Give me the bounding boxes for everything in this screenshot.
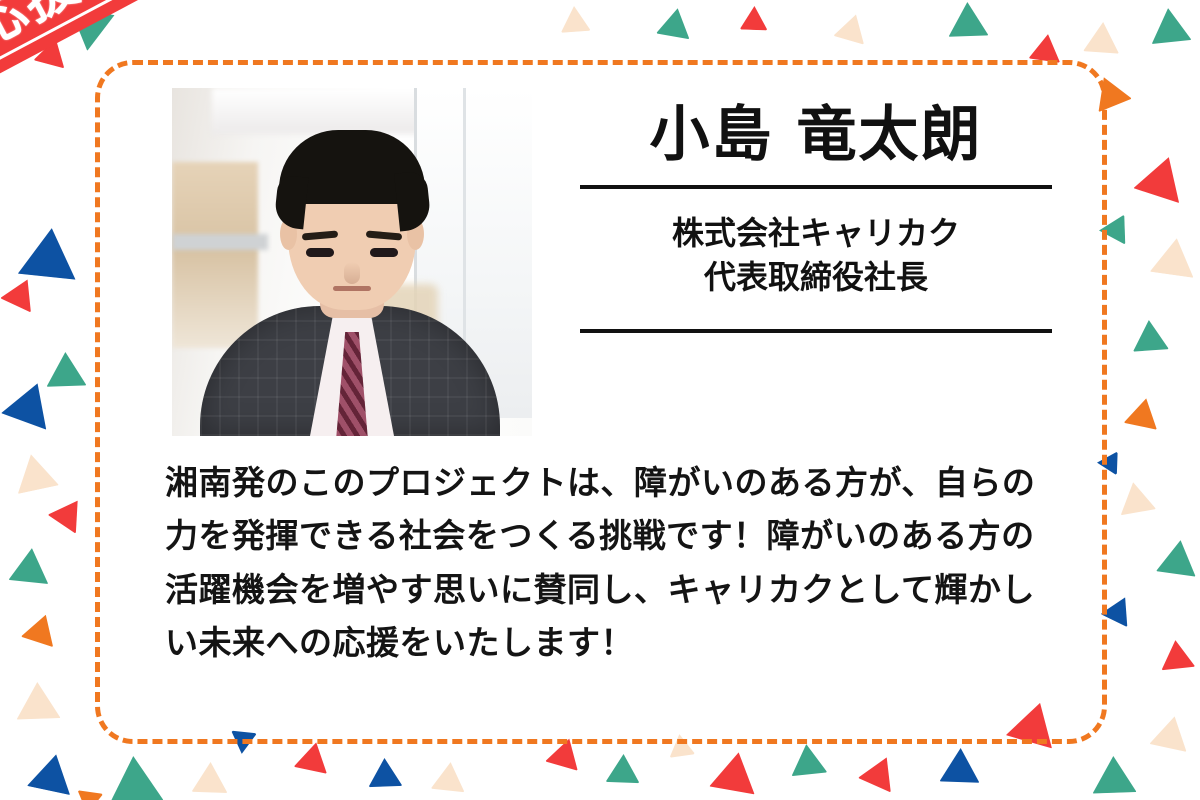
confetti-triangle bbox=[1132, 150, 1191, 207]
name-column: 小島 竜太朗 株式会社キャリカク 代表取締役社長 bbox=[532, 88, 1052, 436]
confetti-triangle bbox=[1115, 479, 1156, 518]
confetti-triangle bbox=[709, 748, 762, 797]
confetti-triangle bbox=[293, 739, 333, 776]
confetti-triangle bbox=[0, 375, 60, 433]
company-name: 株式会社キャリカク bbox=[580, 211, 1052, 255]
photo-ceiling bbox=[212, 88, 442, 134]
confetti-triangle bbox=[106, 754, 163, 800]
confetti-triangle bbox=[8, 546, 52, 587]
confetti-triangle bbox=[15, 681, 60, 723]
photo-eyebrow-right bbox=[366, 230, 402, 240]
confetti-triangle bbox=[1083, 21, 1121, 56]
confetti-triangle bbox=[1149, 235, 1198, 281]
confetti-triangle bbox=[26, 750, 77, 798]
photo-mouth bbox=[333, 286, 371, 291]
confetti-triangle bbox=[367, 757, 402, 789]
photo-shelf bbox=[172, 162, 258, 348]
confetti-triangle bbox=[46, 491, 92, 536]
confetti-triangle bbox=[559, 5, 591, 35]
confetti-triangle bbox=[10, 450, 59, 497]
confetti-triangle bbox=[605, 753, 640, 785]
confetti-triangle bbox=[1156, 537, 1200, 579]
confetti-triangle bbox=[740, 6, 769, 33]
confetti-triangle bbox=[857, 750, 903, 795]
confetti-triangle bbox=[191, 761, 228, 795]
portrait-photo bbox=[172, 88, 532, 436]
support-message-card: 小島 竜太朗 株式会社キャリカク 代表取締役社長 湘南発のこのプロジェクトは、障… bbox=[0, 0, 1200, 800]
confetti-triangle bbox=[20, 610, 62, 650]
photo-eye-left bbox=[306, 248, 334, 257]
confetti-triangle bbox=[1148, 6, 1192, 47]
confetti-triangle bbox=[17, 225, 80, 284]
confetti-triangle bbox=[74, 788, 103, 800]
confetti-triangle bbox=[1158, 638, 1195, 672]
confetti-triangle bbox=[788, 742, 827, 779]
confetti-triangle bbox=[1123, 395, 1163, 432]
photo-eye-right bbox=[370, 248, 398, 257]
confetti-triangle bbox=[430, 760, 467, 794]
confetti-triangle bbox=[947, 1, 988, 39]
confetti-triangle bbox=[939, 747, 980, 785]
confetti-triangle bbox=[45, 351, 86, 389]
photo-shelf-object bbox=[172, 234, 268, 250]
divider-bottom bbox=[580, 329, 1052, 333]
confetti-triangle bbox=[1149, 712, 1193, 754]
confetti-triangle bbox=[656, 5, 695, 41]
affiliation-block: 株式会社キャリカク 代表取締役社長 bbox=[580, 189, 1052, 299]
confetti-triangle bbox=[833, 10, 872, 47]
job-title: 代表取締役社長 bbox=[580, 255, 1052, 299]
message-body: 湘南発のこのプロジェクトは、障がいのある方が、自らの力を発揮できる社会をつくる挑… bbox=[165, 456, 1049, 670]
photo-nose bbox=[344, 262, 360, 284]
confetti-triangle bbox=[1131, 319, 1169, 354]
confetti-triangle bbox=[0, 272, 43, 314]
card-content: 小島 竜太朗 株式会社キャリカク 代表取締役社長 湘南発のこのプロジェクトは、障… bbox=[95, 60, 1107, 744]
person-name: 小島 竜太朗 bbox=[580, 94, 1052, 167]
confetti-triangle bbox=[1091, 755, 1136, 797]
photo-eyebrow-left bbox=[302, 230, 338, 240]
profile-row: 小島 竜太朗 株式会社キャリカク 代表取締役社長 bbox=[172, 88, 1052, 436]
